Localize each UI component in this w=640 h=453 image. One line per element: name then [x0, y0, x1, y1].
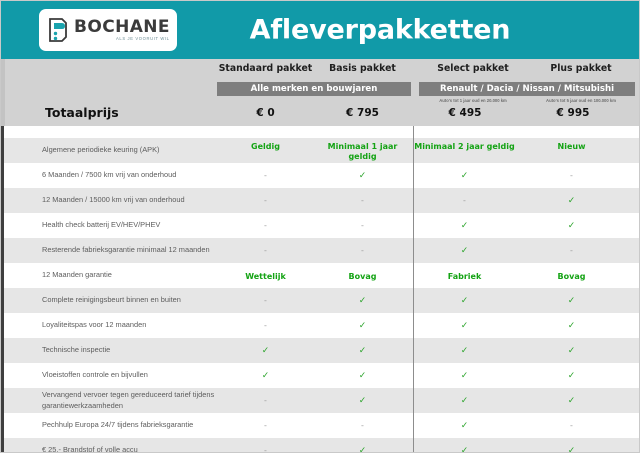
dash-icon: - — [264, 196, 267, 205]
cell-dash: - — [314, 420, 411, 431]
check-icon: ✓ — [359, 446, 367, 453]
total-price-label: Totaalprijs — [45, 105, 119, 120]
cell-text: Wettelijk — [245, 272, 286, 281]
check-icon: ✓ — [461, 421, 469, 431]
cell-check-icon: ✓ — [314, 395, 411, 406]
cell-text: Bovag — [349, 272, 377, 281]
cell-value: Wettelijk — [217, 271, 314, 281]
row-label: Algemene periodieke keuring (APK) — [4, 145, 217, 156]
dash-icon: - — [264, 296, 267, 305]
table-body: Algemene periodieke keuring (APK)GeldigM… — [1, 138, 639, 453]
row-cells: -✓✓✓ — [217, 320, 639, 331]
afleverpakketten-page: BOCHANE ALS JE VOORUIT WIL Afleverpakket… — [0, 0, 640, 453]
price-standaard: € 0 — [217, 107, 314, 119]
cell-text: Minimaal 2 jaar geldig — [414, 142, 515, 151]
cell-value: Minimaal 1 jaar geldig — [314, 141, 411, 161]
cell-check-icon: ✓ — [411, 220, 518, 231]
cell-text: Nieuw — [558, 142, 586, 151]
check-icon: ✓ — [359, 346, 367, 356]
row-label: 12 Maanden / 15000 km vrij van onderhoud — [4, 195, 217, 206]
cell-check-icon: ✓ — [217, 345, 314, 356]
dash-icon: - — [361, 196, 364, 205]
check-icon: ✓ — [568, 221, 576, 231]
cell-value: Minimaal 2 jaar geldig — [411, 141, 518, 161]
cell-check-icon: ✓ — [314, 295, 411, 306]
cell-dash: - — [314, 195, 411, 206]
dash-icon: - — [264, 171, 267, 180]
cell-text: Geldig — [251, 142, 280, 151]
table-row: Vloeistoffen controle en bijvullen✓✓✓✓ — [1, 363, 639, 388]
row-label: Resterende fabrieksgarantie minimaal 12 … — [4, 245, 217, 256]
cell-check-icon: ✓ — [518, 445, 625, 453]
cell-value: Fabriek — [411, 271, 518, 281]
table-row: 12 Maanden garantieWettelijkBovagFabriek… — [1, 263, 639, 288]
cell-check-icon: ✓ — [518, 195, 625, 206]
cell-dash: - — [217, 420, 314, 431]
row-cells: WettelijkBovagFabriekBovag — [217, 271, 639, 281]
row-label: Complete reinigingsbeurt binnen en buite… — [4, 295, 217, 306]
page-header: BOCHANE ALS JE VOORUIT WIL Afleverpakket… — [1, 1, 639, 59]
check-icon: ✓ — [568, 196, 576, 206]
check-icon: ✓ — [359, 321, 367, 331]
dash-icon: - — [264, 446, 267, 453]
cell-check-icon: ✓ — [411, 295, 518, 306]
cell-dash: - — [518, 245, 625, 256]
cell-dash: - — [217, 445, 314, 453]
cell-dash: - — [217, 245, 314, 256]
table-row: € 25,- Brandstof of volle accu-✓✓✓ — [1, 438, 639, 453]
check-icon: ✓ — [461, 446, 469, 453]
package-group-all-brands: Standaard pakket Basis pakket Alle merke… — [217, 63, 411, 109]
check-icon: ✓ — [568, 371, 576, 381]
package-header: Standaard pakket Basis pakket Alle merke… — [1, 59, 639, 126]
check-icon: ✓ — [461, 221, 469, 231]
check-icon: ✓ — [461, 246, 469, 256]
table-row: Resterende fabrieksgarantie minimaal 12 … — [1, 238, 639, 263]
check-icon: ✓ — [461, 396, 469, 406]
page-title: Afleverpakketten — [1, 15, 639, 46]
dash-icon: - — [264, 396, 267, 405]
table-row: Loyaliteitspas voor 12 maanden-✓✓✓ — [1, 313, 639, 338]
cell-check-icon: ✓ — [314, 320, 411, 331]
cell-check-icon: ✓ — [411, 320, 518, 331]
dash-icon: - — [570, 421, 573, 430]
check-icon: ✓ — [359, 171, 367, 181]
row-cells: --✓- — [217, 245, 639, 256]
cell-check-icon: ✓ — [411, 345, 518, 356]
cell-check-icon: ✓ — [411, 445, 518, 453]
check-icon: ✓ — [568, 446, 576, 453]
table-top-spacer — [1, 126, 639, 138]
cell-dash: - — [217, 220, 314, 231]
cell-dash: - — [217, 320, 314, 331]
check-icon: ✓ — [461, 296, 469, 306]
dash-icon: - — [361, 221, 364, 230]
dash-icon: - — [463, 196, 466, 205]
dash-icon: - — [264, 246, 267, 255]
cell-dash: - — [411, 195, 518, 206]
table-row: Algemene periodieke keuring (APK)GeldigM… — [1, 138, 639, 163]
total-price-row: Totaalprijs € 0 € 795 € 495 € 995 — [1, 105, 639, 123]
table-row: Complete reinigingsbeurt binnen en buite… — [1, 288, 639, 313]
cell-dash: - — [217, 170, 314, 181]
row-label: Technische inspectie — [4, 345, 217, 356]
row-cells: --✓✓ — [217, 220, 639, 231]
row-label: Pechhulp Europa 24/7 tijdens fabrieksgar… — [4, 420, 217, 431]
price-basis: € 795 — [314, 107, 411, 119]
check-icon: ✓ — [568, 346, 576, 356]
cell-dash: - — [217, 295, 314, 306]
check-icon: ✓ — [359, 371, 367, 381]
row-cells: ✓✓✓✓ — [217, 345, 639, 356]
table-row: Technische inspectie✓✓✓✓ — [1, 338, 639, 363]
cell-check-icon: ✓ — [518, 345, 625, 356]
cell-check-icon: ✓ — [411, 395, 518, 406]
cell-check-icon: ✓ — [411, 170, 518, 181]
table-row: Vervangend vervoer tegen gereduceerd tar… — [1, 388, 639, 413]
dash-icon: - — [570, 246, 573, 255]
row-cells: ✓✓✓✓ — [217, 370, 639, 381]
cell-check-icon: ✓ — [411, 370, 518, 381]
column-title-standaard: Standaard pakket — [217, 63, 314, 79]
dash-icon: - — [264, 221, 267, 230]
cell-value: Geldig — [217, 141, 314, 161]
package-group-brands: Select pakket Plus pakket Renault / Daci… — [419, 63, 635, 109]
row-label: € 25,- Brandstof of volle accu — [4, 445, 217, 453]
check-icon: ✓ — [461, 171, 469, 181]
group-band-all-brands: Alle merken en bouwjaren — [217, 82, 411, 96]
cell-check-icon: ✓ — [314, 170, 411, 181]
row-cells: ---✓ — [217, 195, 639, 206]
check-icon: ✓ — [461, 346, 469, 356]
table-row: 12 Maanden / 15000 km vrij van onderhoud… — [1, 188, 639, 213]
dash-icon: - — [264, 321, 267, 330]
cell-dash: - — [314, 245, 411, 256]
dash-icon: - — [264, 421, 267, 430]
cell-check-icon: ✓ — [518, 220, 625, 231]
cell-dash: - — [518, 170, 625, 181]
cell-check-icon: ✓ — [314, 345, 411, 356]
comparison-table: Algemene periodieke keuring (APK)GeldigM… — [1, 126, 639, 453]
cell-check-icon: ✓ — [518, 395, 625, 406]
check-icon: ✓ — [262, 371, 270, 381]
check-icon: ✓ — [359, 296, 367, 306]
row-cells: -✓✓- — [217, 170, 639, 181]
cell-dash: - — [217, 395, 314, 406]
row-cells: GeldigMinimaal 1 jaar geldigMinimaal 2 j… — [217, 141, 639, 161]
cell-check-icon: ✓ — [217, 370, 314, 381]
table-row: Pechhulp Europa 24/7 tijdens fabrieksgar… — [1, 413, 639, 438]
row-label: Health check batterij EV/HEV/PHEV — [4, 220, 217, 231]
check-icon: ✓ — [262, 346, 270, 356]
cell-text: Bovag — [558, 272, 586, 281]
check-icon: ✓ — [568, 296, 576, 306]
row-label: Vloeistoffen controle en bijvullen — [4, 370, 217, 381]
cell-text: Fabriek — [448, 272, 482, 281]
price-select: € 495 — [411, 107, 519, 119]
check-icon: ✓ — [568, 396, 576, 406]
check-icon: ✓ — [568, 321, 576, 331]
cell-value: Bovag — [518, 271, 625, 281]
cell-check-icon: ✓ — [411, 420, 518, 431]
row-label: Loyaliteitspas voor 12 maanden — [4, 320, 217, 331]
column-title-select: Select pakket — [419, 63, 527, 79]
row-cells: -✓✓✓ — [217, 295, 639, 306]
price-plus: € 995 — [519, 107, 627, 119]
cell-dash: - — [314, 220, 411, 231]
group-band-brands: Renault / Dacia / Nissan / Mitsubishi — [419, 82, 635, 96]
cell-dash: - — [518, 420, 625, 431]
table-row: Health check batterij EV/HEV/PHEV--✓✓ — [1, 213, 639, 238]
cell-check-icon: ✓ — [314, 370, 411, 381]
row-label: 6 Maanden / 7500 km vrij van onderhoud — [4, 170, 217, 181]
column-title-basis: Basis pakket — [314, 63, 411, 79]
check-icon: ✓ — [359, 396, 367, 406]
row-label: 12 Maanden garantie — [4, 270, 217, 281]
dash-icon: - — [570, 171, 573, 180]
cell-check-icon: ✓ — [518, 295, 625, 306]
column-title-plus: Plus pakket — [527, 63, 635, 79]
row-cells: --✓- — [217, 420, 639, 431]
cell-value: Bovag — [314, 271, 411, 281]
row-label: Vervangend vervoer tegen gereduceerd tar… — [4, 390, 217, 411]
row-cells: -✓✓✓ — [217, 445, 639, 453]
cell-text: Minimaal 1 jaar geldig — [328, 142, 398, 161]
row-cells: -✓✓✓ — [217, 395, 639, 406]
cell-check-icon: ✓ — [518, 370, 625, 381]
cell-dash: - — [217, 195, 314, 206]
cell-check-icon: ✓ — [411, 245, 518, 256]
check-icon: ✓ — [461, 321, 469, 331]
cell-check-icon: ✓ — [518, 320, 625, 331]
dash-icon: - — [361, 421, 364, 430]
cell-value: Nieuw — [518, 141, 625, 161]
check-icon: ✓ — [461, 371, 469, 381]
dash-icon: - — [361, 246, 364, 255]
cell-check-icon: ✓ — [314, 445, 411, 453]
table-row: 6 Maanden / 7500 km vrij van onderhoud-✓… — [1, 163, 639, 188]
